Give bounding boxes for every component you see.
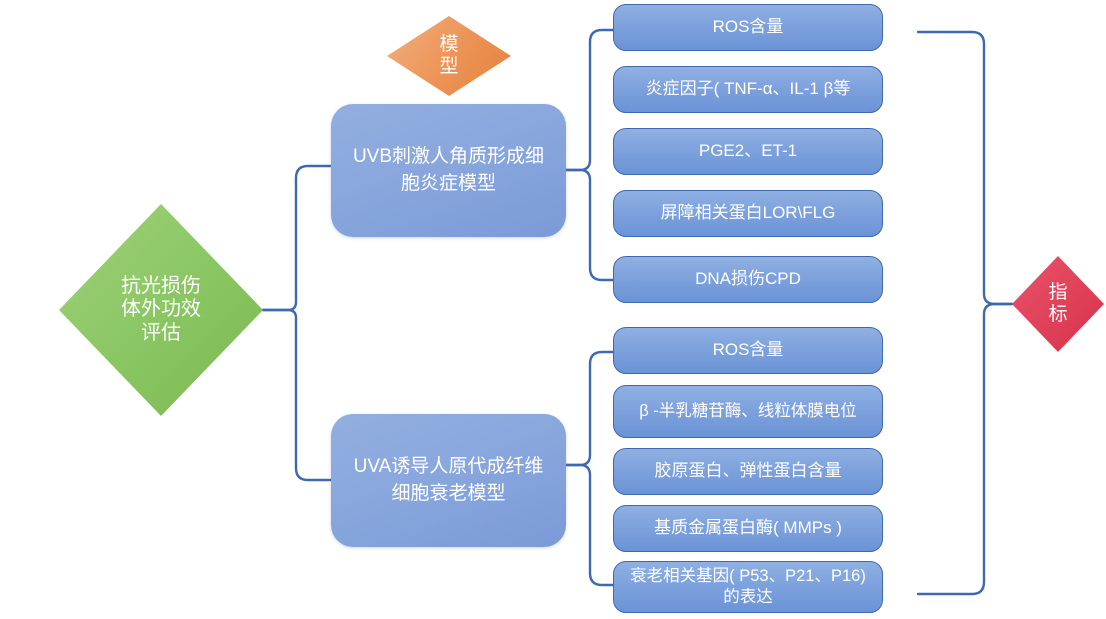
brace-root-to-models-lower bbox=[263, 310, 331, 480]
indicator-box-inflammatory-factors[interactable]: 炎症因子( TNF-α、IL-1 β等 bbox=[613, 66, 883, 113]
category-label-indicator[interactable]: 指 标 bbox=[1012, 256, 1104, 352]
indicator-box-senescence-genes[interactable]: 衰老相关基因( P53、P21、P16)的表达 bbox=[613, 561, 883, 613]
model-node-label: UVB刺激人角质形成细胞炎症模型 bbox=[347, 144, 550, 198]
brace-indicators-to-label-lower bbox=[918, 304, 1012, 594]
indicator-label: PGE2、ET-1 bbox=[699, 140, 797, 162]
brace-model2-to-indicators-upper bbox=[566, 352, 613, 465]
diagram-canvas: 抗光损伤 体外功效 评估 模 型 指 标 UVB刺激人角质形成细胞炎症模型 UV… bbox=[0, 0, 1106, 619]
model-node-label: UVA诱导人原代成纤维细胞衰老模型 bbox=[347, 454, 550, 508]
brace-model2-to-indicators-lower bbox=[566, 465, 613, 585]
category-label-model[interactable]: 模 型 bbox=[387, 16, 511, 96]
model-node-uva-fibroblast-senescence[interactable]: UVA诱导人原代成纤维细胞衰老模型 bbox=[331, 414, 566, 547]
indicator-label: 胶原蛋白、弹性蛋白含量 bbox=[655, 460, 842, 482]
indicator-label: 炎症因子( TNF-α、IL-1 β等 bbox=[646, 78, 851, 100]
indicator-box-dna-damage-cpd[interactable]: DNA损伤CPD bbox=[613, 256, 883, 303]
category-label-indicator-text: 指 标 bbox=[1048, 282, 1067, 327]
indicator-box-matrix-metalloproteinases[interactable]: 基质金属蛋白酶( MMPs ) bbox=[613, 505, 883, 552]
root-node-anti-photodamage[interactable]: 抗光损伤 体外功效 评估 bbox=[59, 204, 263, 416]
indicator-label: ROS含量 bbox=[713, 16, 784, 38]
brace-indicators-to-label-upper bbox=[918, 32, 1012, 304]
indicator-label: DNA损伤CPD bbox=[695, 268, 801, 290]
indicator-box-collagen-elastin[interactable]: 胶原蛋白、弹性蛋白含量 bbox=[613, 448, 883, 495]
indicator-box-barrier-proteins[interactable]: 屏障相关蛋白LOR\FLG bbox=[613, 190, 883, 237]
brace-root-to-models bbox=[263, 166, 331, 310]
root-node-label: 抗光损伤 体外功效 评估 bbox=[121, 275, 201, 346]
indicator-label: β -半乳糖苷酶、线粒体膜电位 bbox=[639, 401, 857, 422]
indicator-box-ros-content-uva[interactable]: ROS含量 bbox=[613, 327, 883, 374]
indicator-label: 基质金属蛋白酶( MMPs ) bbox=[654, 517, 842, 539]
indicator-label: 屏障相关蛋白LOR\FLG bbox=[661, 202, 836, 224]
indicator-box-ros-content-uvb[interactable]: ROS含量 bbox=[613, 4, 883, 51]
model-node-uvb-keratinocyte-inflammation[interactable]: UVB刺激人角质形成细胞炎症模型 bbox=[331, 104, 566, 237]
indicator-label: 衰老相关基因( P53、P21、P16)的表达 bbox=[624, 566, 872, 609]
brace-model1-to-indicators-lower bbox=[566, 170, 613, 280]
indicator-box-pge2-et1[interactable]: PGE2、ET-1 bbox=[613, 128, 883, 175]
indicator-box-beta-gal-mitochondrial-potential[interactable]: β -半乳糖苷酶、线粒体膜电位 bbox=[613, 385, 883, 438]
category-label-model-text: 模 型 bbox=[439, 34, 458, 79]
indicator-label: ROS含量 bbox=[713, 339, 784, 361]
brace-model1-to-indicators-upper bbox=[566, 30, 613, 170]
